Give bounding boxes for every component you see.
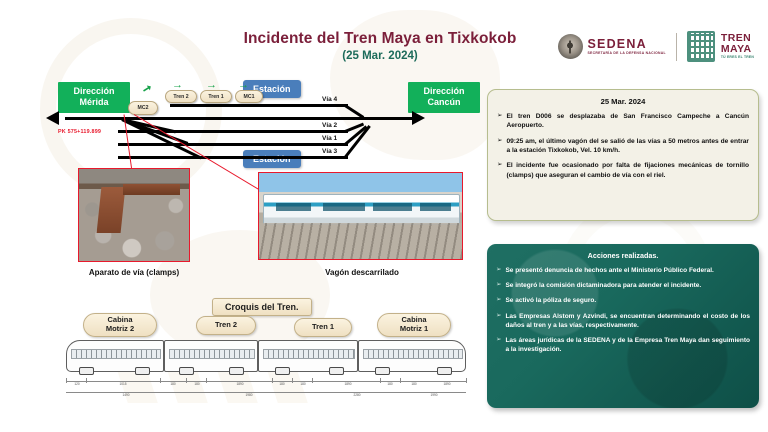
direction-cancun-line1: Dirección	[423, 86, 464, 96]
dimension-label-11: 1890	[428, 382, 466, 386]
wagon-body	[263, 194, 460, 225]
green-arrow-2-icon: →	[206, 80, 217, 91]
wagon-window-2	[323, 203, 366, 211]
dimension-total-3: 2280	[312, 393, 402, 397]
croquis-cabin-tren1: Tren 1	[294, 318, 352, 337]
action-bullet-2-text: Se integró la comisión dictaminadora par…	[505, 281, 701, 290]
direction-cancun-line2: Cancún	[427, 97, 460, 107]
wagon-window-1	[276, 203, 311, 211]
sedena-logo-subtitle: SECRETARÍA DE LA DEFENSA NACIONAL	[588, 52, 666, 55]
direction-merida-box: Dirección Mérida	[58, 82, 130, 113]
tren-maya-tagline: TÚ ERES EL TREN	[721, 56, 754, 59]
logo-group: SEDENA SECRETARÍA DE LA DEFENSA NACIONAL…	[558, 31, 755, 62]
croquis-cabin-motriz1: CabinaMotriz 1	[377, 313, 451, 337]
page-title: Incidente del Tren Maya en Tixkokob	[190, 30, 570, 48]
actions-panel: Acciones realizadas. ➢ Se presentó denun…	[487, 244, 759, 408]
bullet-marker-icon: ➢	[497, 161, 502, 180]
action-bullet-4: ➢ Las Empresas Alstom y Azvindi, se encu…	[496, 312, 750, 330]
track-label-via1: Vía 1	[322, 135, 337, 142]
direction-merida-line2: Mérida	[79, 97, 108, 107]
rail-clamp-image	[79, 169, 189, 261]
page-subtitle: (25 Mar. 2024)	[190, 50, 570, 62]
incident-bullet-3: ➢ El incidente fue ocasionado por falta …	[497, 161, 749, 180]
tdraw-bogie-2b	[229, 367, 244, 375]
track-label-via3: Vía 3	[322, 148, 337, 155]
green-arrow-diagonal-icon: ➞	[141, 82, 155, 96]
dimension-label-2: 1015	[95, 382, 151, 386]
green-arrow-1-icon: →	[172, 80, 183, 91]
dimension-label-1: 120	[66, 382, 88, 386]
photo-caption-wagon: Vagón descarrilado	[282, 268, 442, 277]
diagram-car-tren1: Tren 1	[200, 90, 232, 103]
cabin-tren1-label: Tren 1	[312, 323, 334, 332]
croquis-title: Croquis del Tren.	[212, 298, 312, 316]
rail-line-via4	[170, 104, 348, 107]
dimension-total-1: 1490	[66, 393, 186, 397]
incident-bullet-1-text: El tren D006 se desplazaba de San Franci…	[506, 112, 749, 131]
tdraw-bogie-3a	[275, 367, 290, 375]
tdraw-bogie-4b	[437, 367, 452, 375]
incident-bullet-2: ➢ 09:25 am, el último vagón del se salió…	[497, 137, 749, 156]
croquis-cabin-motriz2: CabinaMotriz 2	[83, 313, 157, 337]
tdraw-bogie-2a	[179, 367, 194, 375]
arrow-left-merida	[46, 111, 59, 125]
incident-bullet-3-text: El incidente fue ocasionado por falta de…	[506, 161, 749, 180]
bullet-marker-icon: ➢	[497, 137, 502, 156]
dimension-total-2: 1980	[186, 393, 312, 397]
tdraw-bogie-1b	[135, 367, 150, 375]
wagon-window-4	[420, 203, 451, 211]
maya-glyph-icon	[687, 31, 715, 62]
dimension-tick-11	[466, 378, 467, 383]
arrow-right-cancun	[412, 111, 425, 125]
dimension-total-4: 1990	[402, 393, 466, 397]
track-label-via2: Vía 2	[322, 122, 337, 129]
action-bullet-5-text: Las áreas jurídicas de la SEDENA y de la…	[505, 336, 750, 354]
station-badge-bottom: Estación	[243, 150, 301, 168]
photo-rail-clamp	[78, 168, 190, 262]
tdraw-car-3	[258, 340, 358, 372]
green-arrow-3-icon: →	[238, 80, 249, 91]
rail-switch-c	[121, 118, 201, 159]
bullet-marker-icon: ➢	[496, 266, 501, 275]
direction-cancun-box: Dirección Cancún	[408, 82, 480, 113]
tren-maya-logo: TREN MAYA TÚ ERES EL TREN	[687, 31, 754, 62]
tdraw-car-2	[164, 340, 258, 372]
sedena-logo-name: SEDENA	[588, 38, 666, 51]
actions-panel-title: Acciones realizadas.	[496, 251, 750, 260]
dimension-label-6: 180	[270, 382, 294, 386]
tdraw-car-4	[358, 340, 466, 372]
bullet-marker-icon: ➢	[497, 112, 502, 131]
sedena-logo: SEDENA SECRETARÍA DE LA DEFENSA NACIONAL	[558, 34, 666, 59]
dimension-label-4: 180	[186, 382, 208, 386]
tdraw-bogie-3b	[329, 367, 344, 375]
bullet-marker-icon: ➢	[496, 312, 501, 330]
diagram-car-tren2: Tren 2	[165, 90, 197, 103]
ballast-track-bed	[259, 223, 462, 259]
rail-line-via3	[118, 156, 348, 159]
bullet-marker-icon: ➢	[496, 296, 501, 305]
incident-info-panel: 25 Mar. 2024 ➢ El tren D006 se desplazab…	[487, 89, 759, 221]
dimension-label-8: 1890	[320, 382, 376, 386]
pk-marker-label: PK 575+119.899	[58, 129, 101, 135]
tren-maya-line2: MAYA	[721, 44, 754, 55]
rail-line-via1	[118, 143, 348, 146]
bullet-marker-icon: ➢	[496, 281, 501, 290]
action-bullet-3-text: Se activó la póliza de seguro.	[505, 296, 596, 305]
action-bullet-3: ➢ Se activó la póliza de seguro.	[496, 296, 750, 305]
mexico-eagle-icon	[558, 34, 583, 59]
slide-canvas: Incidente del Tren Maya en Tixkokob (25 …	[0, 0, 768, 432]
rail-trunk-right	[360, 117, 415, 120]
rail-trunk-main	[65, 117, 365, 120]
tdraw-bogie-4a	[375, 367, 390, 375]
cabin-motriz1-line2: Motriz 1	[400, 324, 428, 333]
dimension-label-9: 180	[378, 382, 402, 386]
logo-divider	[676, 33, 677, 61]
dimension-label-3: 180	[160, 382, 186, 386]
dimension-label-7: 180	[292, 382, 314, 386]
dimension-label-5: 1890	[212, 382, 268, 386]
tdraw-bogie-1a	[79, 367, 94, 375]
direction-merida-line1: Dirección	[73, 86, 114, 96]
dimension-label-10: 180	[402, 382, 426, 386]
wagon-window-3	[373, 203, 412, 211]
cabin-motriz2-line2: Motriz 2	[106, 324, 134, 333]
bullet-marker-icon: ➢	[496, 336, 501, 354]
action-bullet-1: ➢ Se presentó denuncia de hechos ante el…	[496, 266, 750, 275]
croquis-cabin-tren2: Tren 2	[196, 316, 256, 335]
photo-derailed-wagon	[258, 172, 463, 260]
cabin-tren2-label: Tren 2	[215, 321, 237, 330]
action-bullet-4-text: Las Empresas Alstom y Azvindi, se encuen…	[505, 312, 750, 330]
photo-caption-clamp: Aparato de vía (clamps)	[60, 268, 208, 277]
incident-panel-date: 25 Mar. 2024	[497, 97, 749, 106]
action-bullet-5: ➢ Las áreas jurídicas de la SEDENA y de …	[496, 336, 750, 354]
derailed-wagon-image	[259, 173, 462, 259]
incident-bullet-2-text: 09:25 am, el último vagón del se salió d…	[506, 137, 749, 156]
track-label-via4: Vía 4	[322, 96, 337, 103]
diagram-car-mc1: MC1	[235, 90, 263, 103]
tdraw-car-1	[66, 340, 164, 372]
action-bullet-2: ➢ Se integró la comisión dictaminadora p…	[496, 281, 750, 290]
diagram-car-mc2: MC2	[128, 101, 158, 115]
action-bullet-1-text: Se presentó denuncia de hechos ante el M…	[505, 266, 713, 275]
train-technical-drawing	[66, 340, 466, 370]
incident-bullet-1: ➢ El tren D006 se desplazaba de San Fran…	[497, 112, 749, 131]
page-title-block: Incidente del Tren Maya en Tixkokob (25 …	[190, 30, 570, 62]
